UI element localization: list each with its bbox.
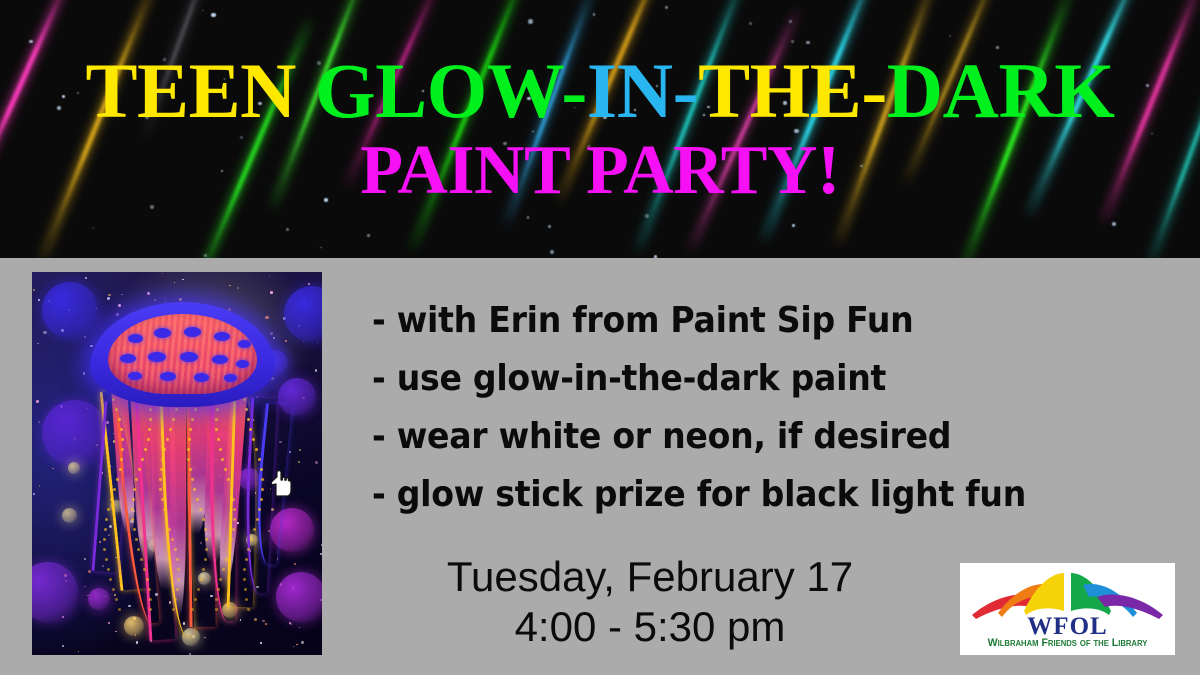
wfol-logo: WFOL Wilbraham Friends of the Library: [960, 563, 1175, 655]
poster-title: TEEN GLOW-IN-THE-DARK PAINT PARTY!: [0, 0, 1200, 258]
speck: [285, 340, 287, 342]
list-item: - use glow-in-the-dark paint: [372, 350, 1099, 408]
title-segment-4: IN: [587, 47, 673, 134]
event-time: 4:00 - 5:30 pm: [340, 602, 960, 652]
tentacle-dot: [118, 418, 121, 421]
title-line-2: PAINT PARTY!: [360, 136, 840, 206]
title-line-2-text: PAINT PARTY!: [360, 132, 840, 209]
bell-spot: [194, 373, 209, 382]
speck: [229, 285, 230, 286]
bell-spot: [212, 355, 228, 364]
tentacle-dot: [194, 598, 197, 601]
title-segment-3: -: [561, 47, 586, 134]
tentacle-dot: [245, 598, 248, 601]
tentacle-dot: [204, 528, 207, 531]
tentacle-dot: [148, 588, 151, 591]
title-segment-0: TEEN: [86, 47, 296, 134]
tentacle-dot: [149, 408, 152, 411]
bell-spot: [128, 334, 143, 343]
tentacle-dot: [176, 588, 179, 591]
bubble: [88, 588, 110, 610]
bell-spot: [236, 360, 249, 368]
speck: [254, 618, 257, 621]
tentacle-dot: [146, 578, 149, 581]
tentacle-dot: [197, 588, 200, 591]
tentacle-dot: [215, 608, 218, 611]
tentacle-dot: [189, 468, 192, 471]
tentacle-dot: [256, 518, 259, 521]
speck: [289, 451, 291, 453]
speck: [277, 558, 278, 559]
tentacle-dot: [120, 428, 123, 431]
tentacle-dot: [187, 448, 190, 451]
title-segment-6: THE: [698, 47, 861, 134]
title-line-1: TEEN GLOW-IN-THE-DARK: [86, 52, 1115, 130]
tentacle-dot: [215, 418, 218, 421]
tentacle-dot: [160, 468, 163, 471]
tentacle-dot: [177, 568, 180, 571]
tentacle-dot: [204, 558, 207, 561]
tentacle-dot: [233, 508, 236, 511]
tentacle-dot: [232, 498, 235, 501]
speck: [321, 544, 322, 546]
speck: [107, 297, 110, 300]
speck: [174, 282, 175, 283]
tentacle-dot: [121, 448, 124, 451]
tentacle-dot: [200, 578, 203, 581]
bubble: [68, 462, 80, 474]
tentacle-dot: [228, 548, 231, 551]
tentacle-dot: [107, 568, 110, 571]
tentacle-dot: [118, 608, 121, 611]
tentacle-dot: [253, 528, 256, 531]
bubble: [62, 508, 77, 523]
title-segment-1: [296, 47, 315, 134]
speck: [240, 619, 241, 620]
speck: [189, 653, 191, 655]
tentacle-dot: [191, 478, 194, 481]
list-item: - glow stick prize for black light fun: [372, 466, 1099, 524]
tentacle-dot: [131, 508, 134, 511]
tentacle-dot: [188, 438, 191, 441]
bubble: [124, 616, 144, 636]
event-date: Tuesday, February 17: [340, 552, 960, 602]
tentacle-dot: [205, 548, 208, 551]
bell-spot: [148, 352, 166, 362]
tentacle-dot: [149, 608, 152, 611]
speck: [118, 304, 121, 307]
speck: [299, 449, 301, 451]
tentacle-dot: [175, 408, 178, 411]
speck: [36, 400, 39, 403]
bell-spot: [184, 327, 201, 337]
speck: [38, 299, 40, 301]
speck: [38, 421, 40, 423]
tentacle-dot: [222, 568, 225, 571]
speck: [270, 291, 273, 294]
tentacle-dot: [260, 498, 263, 501]
tentacle-dot: [247, 418, 250, 421]
bell-spot: [154, 328, 171, 338]
speck: [90, 345, 92, 347]
bell-spot: [238, 340, 251, 348]
tentacle-dot: [159, 478, 162, 481]
tentacle-dot: [132, 498, 135, 501]
flyer-poster: TEEN GLOW-IN-THE-DARK PAINT PARTY! - wit…: [0, 0, 1200, 675]
tentacle-dot: [260, 468, 263, 471]
speck: [315, 369, 317, 371]
tentacle-dot: [115, 408, 118, 411]
bubble: [276, 572, 322, 622]
tentacle-dot: [176, 558, 179, 561]
tentacle-dot: [245, 408, 248, 411]
speck: [147, 292, 150, 295]
details-list: - with Erin from Paint Sip Fun - use glo…: [372, 292, 1162, 524]
speck: [84, 558, 86, 560]
bell-spot: [160, 372, 176, 381]
event-schedule: Tuesday, February 17 4:00 - 5:30 pm: [340, 552, 960, 652]
tentacle-dot: [174, 548, 177, 551]
tentacle-dot: [217, 438, 220, 441]
tentacle-dot: [233, 518, 236, 521]
tentacle-dot: [205, 538, 208, 541]
tentacle-dot: [219, 448, 222, 451]
tentacle-dot: [243, 578, 246, 581]
speck: [88, 570, 91, 573]
bubble: [42, 282, 98, 338]
tentacle-dot: [149, 418, 152, 421]
title-segment-2: GLOW: [315, 47, 561, 134]
bell-spot: [224, 374, 237, 382]
tentacle-dot: [172, 608, 175, 611]
bell-spot: [128, 372, 142, 380]
title-segment-7: -: [861, 47, 886, 134]
speck: [265, 316, 268, 319]
tentacle-dot: [135, 538, 138, 541]
speck: [179, 298, 182, 301]
tentacle-dot: [232, 528, 235, 531]
tentacle-dot: [217, 588, 220, 591]
tentacle-dot: [250, 538, 253, 541]
tentacle-dot: [147, 438, 150, 441]
speck: [289, 622, 291, 624]
tentacle-dot: [177, 578, 180, 581]
tentacle-dot: [149, 598, 152, 601]
bell-spot: [180, 352, 198, 362]
tentacle-dot: [244, 588, 247, 591]
bubble: [42, 400, 108, 466]
tentacle-dot: [261, 488, 264, 491]
tentacle-dot: [230, 488, 233, 491]
tentacle-dot: [161, 498, 164, 501]
speck: [296, 644, 297, 645]
tentacle-dot: [104, 528, 107, 531]
poster-body: - with Erin from Paint Sip Fun - use glo…: [0, 258, 1200, 675]
list-item: - with Erin from Paint Sip Fun: [372, 292, 1099, 350]
tentacle-dot: [258, 458, 261, 461]
speck: [136, 641, 138, 643]
tentacle-dot: [216, 408, 219, 411]
tentacle-dot: [163, 508, 166, 511]
tentacle-dot: [103, 538, 106, 541]
speck: [154, 299, 155, 300]
tentacle-dot: [261, 478, 264, 481]
speck: [165, 301, 166, 302]
jellyfish-artwork: [32, 272, 322, 655]
bell-spot: [214, 332, 230, 341]
speck: [116, 313, 119, 316]
speck: [108, 294, 111, 297]
tentacle-dot: [245, 558, 248, 561]
speck: [83, 372, 85, 374]
list-item: - wear white or neon, if desired: [372, 408, 1099, 466]
title-segment-5: -: [673, 47, 698, 134]
bell-spot: [120, 354, 136, 363]
tentacle-dot: [121, 438, 124, 441]
speck: [262, 620, 265, 623]
speck: [320, 553, 322, 555]
logo-tagline: Wilbraham Friends of the Library: [964, 637, 1170, 649]
tentacle-dot: [119, 468, 122, 471]
tentacle-dot: [112, 398, 115, 401]
tentacle-dot: [225, 558, 228, 561]
title-segment-8: DARK: [887, 47, 1115, 134]
tentacle-dot: [202, 518, 205, 521]
speck: [317, 342, 318, 343]
tentacle-dot: [105, 558, 108, 561]
tentacle-dot: [133, 528, 136, 531]
